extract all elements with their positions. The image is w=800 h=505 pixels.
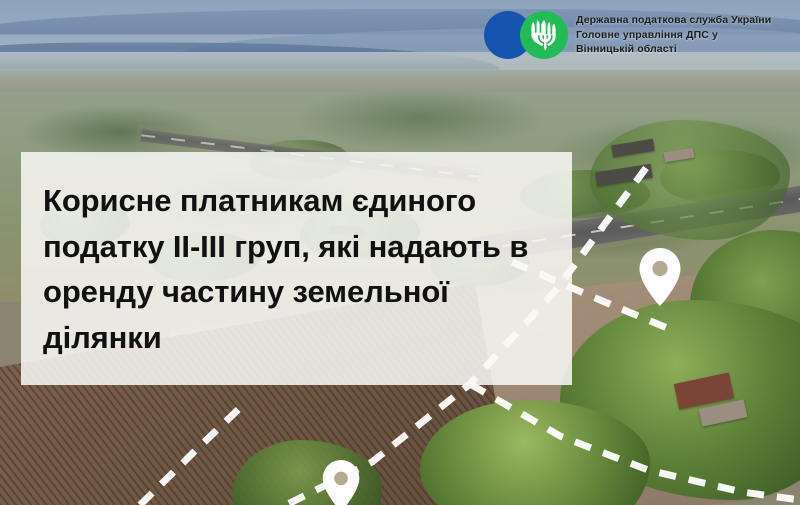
- organization-name: Державна податкова служба України Головн…: [576, 13, 771, 58]
- map-pin-icon: [323, 460, 360, 505]
- logo-marks: [484, 11, 568, 59]
- ukraine-trident-icon: [531, 20, 557, 50]
- brand-line-3: Вінницькій області: [576, 42, 771, 57]
- map-pin-icon: [640, 248, 681, 306]
- brand-line-1: Державна податкова служба України: [576, 13, 771, 28]
- green-circle-icon: [520, 11, 568, 59]
- banner-canvas: Державна податкова служба України Головн…: [0, 0, 800, 505]
- organization-brand: Державна податкова служба України Головн…: [484, 11, 771, 59]
- dashed-parcel-boundary: [470, 384, 800, 500]
- headline-panel: Корисне платникам єдиного податку II-III…: [21, 152, 572, 385]
- dashed-parcel-boundary: [140, 404, 244, 505]
- brand-line-2: Головне управління ДПС у: [576, 28, 771, 43]
- headline-text: Корисне платникам єдиного податку II-III…: [43, 178, 546, 360]
